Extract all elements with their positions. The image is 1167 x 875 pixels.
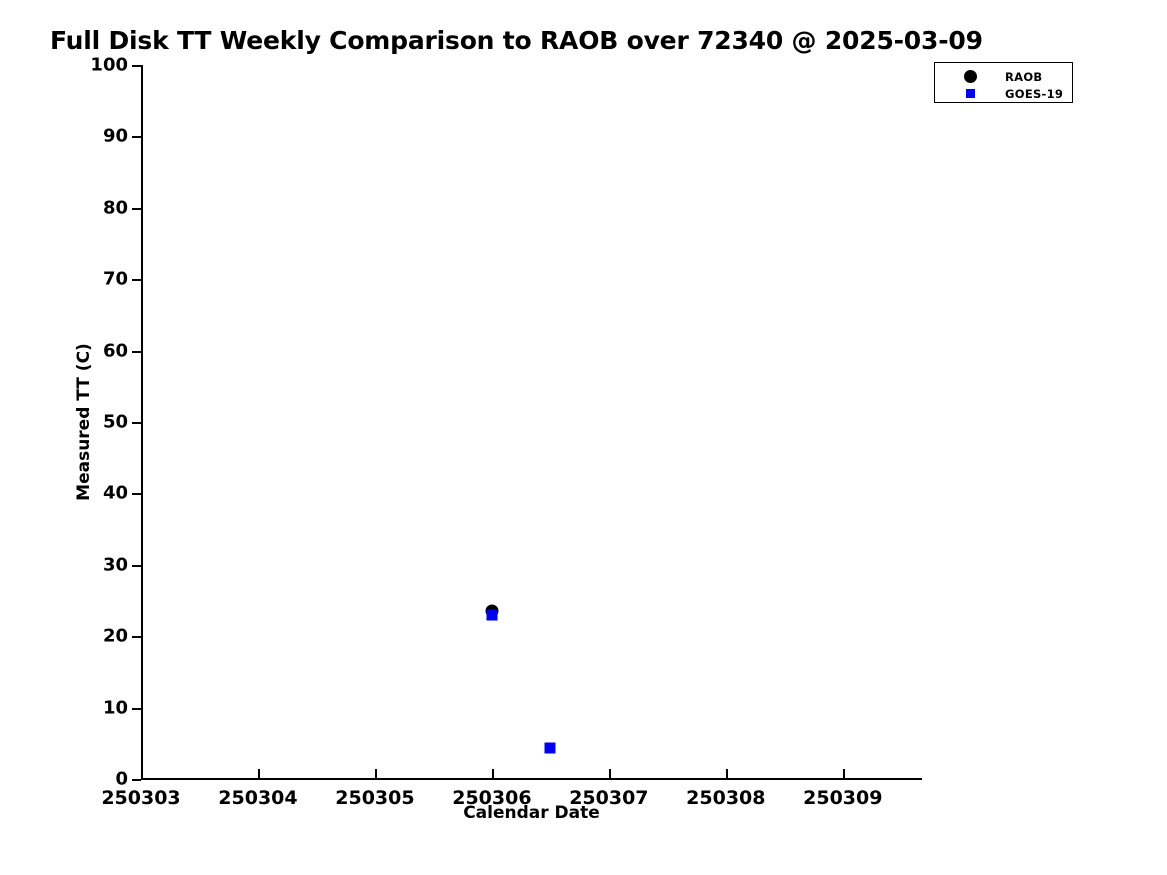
x-tick-mark [609,769,611,779]
y-tick-label: 100 [90,55,128,76]
x-tick-mark [492,769,494,779]
y-tick-mark [132,351,141,353]
circle-icon [964,70,977,83]
legend-swatch-wrap [935,70,1005,83]
chart-legend: RAOBGOES-19 [934,62,1073,103]
square-icon [966,89,975,98]
x-tick-mark [375,769,377,779]
y-tick-label: 30 [103,554,128,575]
y-tick-label: 70 [103,269,128,290]
page-title: Full Disk TT Weekly Comparison to RAOB o… [50,26,983,55]
x-tick-mark [141,769,143,779]
y-tick-label: 90 [103,126,128,147]
y-tick-label: 60 [103,340,128,361]
y-tick-label: 10 [103,697,128,718]
y-tick-mark [132,636,141,638]
x-axis-label: Calendar Date [141,803,922,823]
y-tick-mark [132,136,141,138]
y-tick-label: 80 [103,197,128,218]
y-axis-label-text: Measured TT (C) [74,343,94,501]
data-point-goes-19 [545,743,556,754]
legend-item-goes-19: GOES-19 [935,84,1072,103]
x-tick-mark [843,769,845,779]
y-tick-label: 50 [103,412,128,433]
y-tick-mark [132,708,141,710]
legend-label: RAOB [1005,70,1043,84]
y-tick-mark [132,279,141,281]
y-tick-mark [132,422,141,424]
plot-area: 0102030405060708090100 25030325030425030… [141,65,920,779]
y-tick-mark [132,565,141,567]
data-point-goes-19 [486,609,497,620]
y-tick-label: 40 [103,483,128,504]
y-tick-mark [132,208,141,210]
y-tick-mark [132,493,141,495]
x-tick-mark [258,769,260,779]
chart-page: Full Disk TT Weekly Comparison to RAOB o… [0,0,1167,875]
x-tick-mark [726,769,728,779]
y-tick-label: 20 [103,626,128,647]
y-tick-mark [132,65,141,67]
y-tick-mark [132,779,141,781]
legend-label: GOES-19 [1005,87,1063,101]
legend-swatch-wrap [935,89,1005,98]
